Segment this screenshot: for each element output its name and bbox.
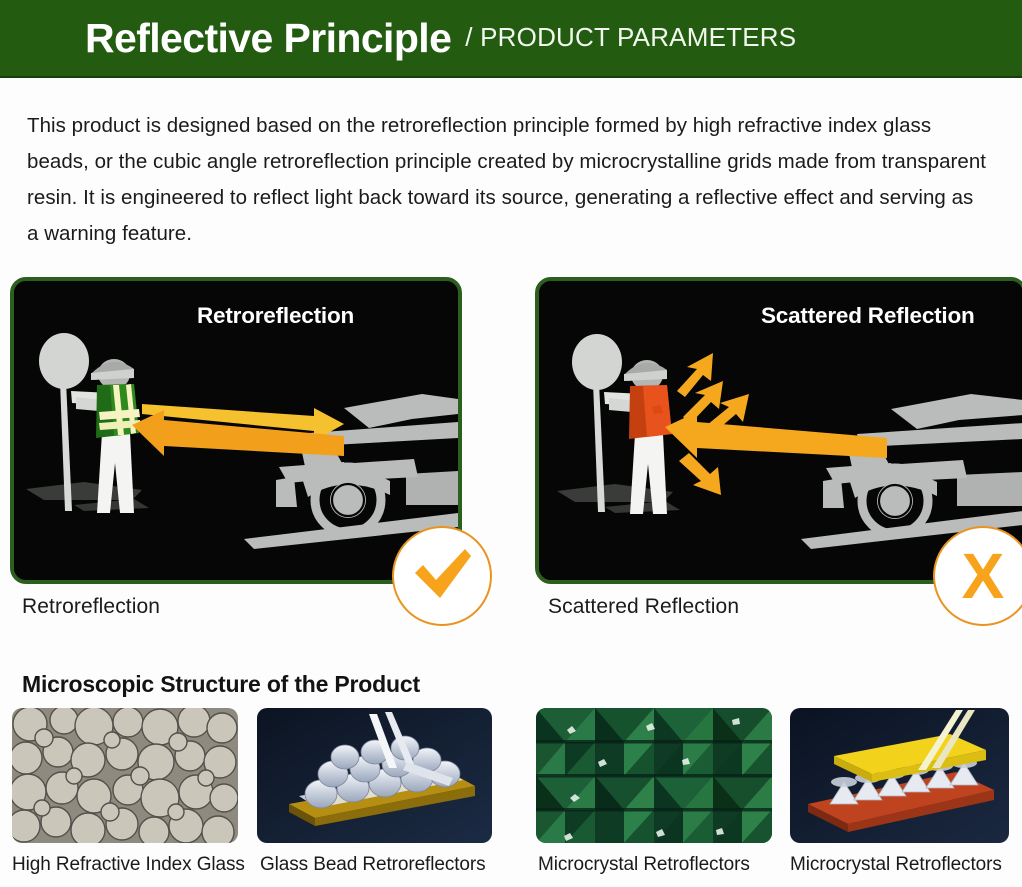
check-icon	[409, 546, 475, 606]
caption-retroreflection: Retroreflection	[22, 595, 160, 619]
prismatic-photo	[536, 708, 772, 843]
thumbnail-glass-bead-retroreflectors[interactable]	[257, 708, 492, 843]
caption-scattered-reflection: Scattered Reflection	[548, 595, 739, 619]
panel-title-retroreflection: Retroreflection	[197, 303, 354, 329]
page-subtitle: / PRODUCT PARAMETERS	[465, 24, 796, 52]
cross-badge: X	[933, 526, 1022, 626]
panel-title-scattered-reflection: Scattered Reflection	[761, 303, 975, 329]
thumbnail-caption-3: Microcrystal Retroflectors	[790, 854, 1002, 876]
thumbnail-caption-2: Microcrystal Retroflectors	[538, 854, 750, 876]
thumbnail-caption-0: High Refractive Index Glass	[12, 854, 245, 876]
thumbnail-microcrystal-retroflectors-photo[interactable]	[536, 708, 772, 843]
thumbnail-microcrystal-retroflectors-diagram[interactable]	[790, 708, 1009, 843]
micro-thumbnail-grid: High Refractive Index Glass	[0, 708, 1022, 887]
checkmark-badge	[392, 526, 492, 626]
thumbnail-caption-1: Glass Bead Retroreflectors	[260, 854, 486, 876]
glass-bead-diagram	[257, 708, 492, 843]
page-root: Reflective Principle / PRODUCT PARAMETER…	[0, 0, 1022, 887]
intro-paragraph: This product is designed based on the re…	[27, 108, 989, 252]
comparison-panels: Retroreflection	[0, 277, 1022, 587]
microprism-diagram	[790, 708, 1009, 843]
page-header: Reflective Principle / PRODUCT PARAMETER…	[0, 0, 1022, 78]
panel-retroreflection: Retroreflection	[10, 277, 462, 584]
micro-section-heading: Microscopic Structure of the Product	[22, 671, 420, 698]
glass-beads-photo	[12, 708, 238, 843]
thumbnail-high-refractive-index-glass[interactable]	[12, 708, 238, 843]
page-title: Reflective Principle	[85, 18, 451, 59]
x-icon: X	[962, 544, 1005, 608]
